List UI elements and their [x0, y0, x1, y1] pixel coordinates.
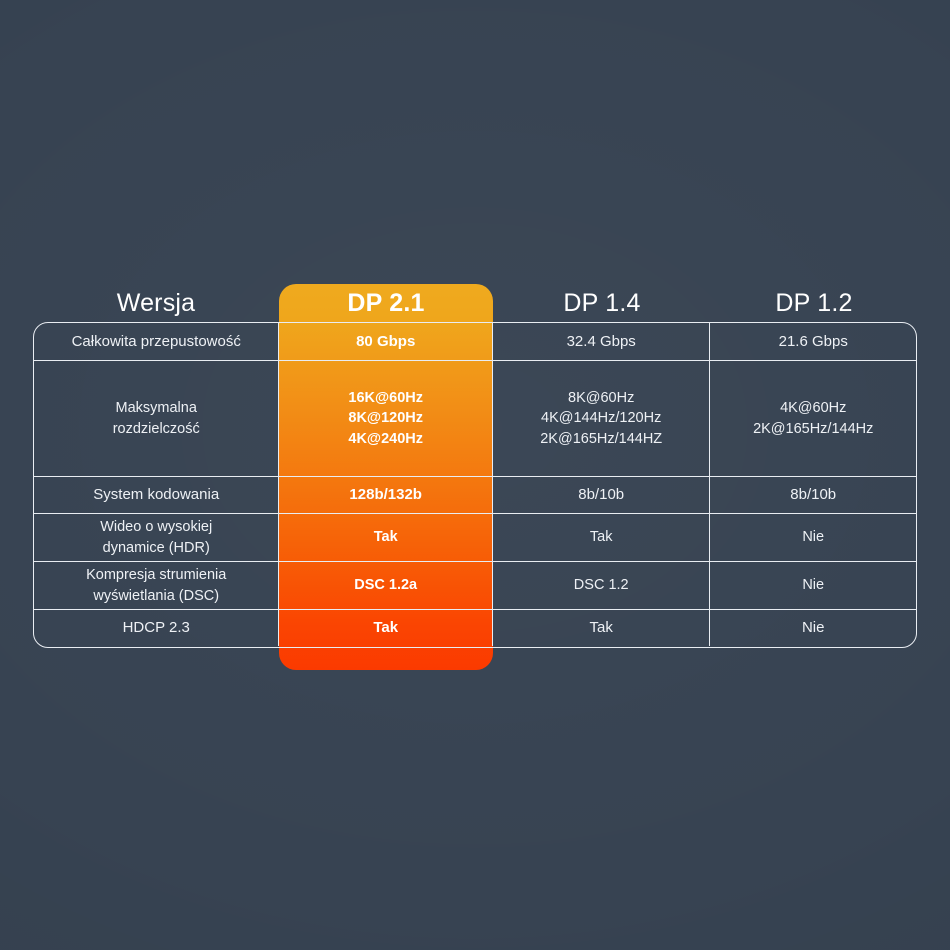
column-header-feature: Wersja [33, 284, 279, 322]
column-header-dp21-label: DP 2.1 [347, 289, 424, 318]
cell-feature-encoding: System kodowania [34, 477, 279, 513]
column-header-feature-label: Wersja [117, 289, 196, 318]
cell-feature-hdr: Wideo o wysokiej dynamice (HDR) [34, 514, 279, 561]
cell-dp21-resolution: 16K@60Hz 8K@120Hz 4K@240Hz [279, 361, 493, 476]
table-header-row: Wersja DP 2.1 DP 1.4 DP 1.2 [33, 284, 917, 322]
column-header-dp14-label: DP 1.4 [563, 289, 640, 318]
cell-dp21-dsc: DSC 1.2a [279, 562, 493, 609]
column-header-dp12-label: DP 1.2 [775, 289, 852, 318]
cell-dp14-hdr: Tak [493, 514, 711, 561]
cell-dp21-hdcp: Tak [279, 610, 493, 646]
cell-dp12-hdr: Nie [710, 514, 916, 561]
table-row: Maksymalna rozdzielczość 16K@60Hz 8K@120… [34, 361, 916, 477]
comparison-table-body: Całkowita przepustowość 80 Gbps 32.4 Gbp… [33, 322, 917, 648]
cell-dp12-hdcp: Nie [710, 610, 916, 646]
cell-dp14-bandwidth: 32.4 Gbps [493, 323, 711, 360]
column-header-dp21: DP 2.1 [279, 284, 493, 322]
cell-dp12-encoding: 8b/10b [710, 477, 916, 513]
column-header-dp14: DP 1.4 [493, 284, 711, 322]
cell-feature-dsc: Kompresja strumienia wyświetlania (DSC) [34, 562, 279, 609]
table-row: Wideo o wysokiej dynamice (HDR) Tak Tak … [34, 514, 916, 562]
cell-dp21-hdr: Tak [279, 514, 493, 561]
table-row: System kodowania 128b/132b 8b/10b 8b/10b [34, 477, 916, 514]
cell-dp21-bandwidth: 80 Gbps [279, 323, 493, 360]
cell-dp12-bandwidth: 21.6 Gbps [710, 323, 916, 360]
cell-dp14-dsc: DSC 1.2 [493, 562, 711, 609]
cell-dp14-hdcp: Tak [493, 610, 711, 646]
cell-feature-resolution: Maksymalna rozdzielczość [34, 361, 279, 476]
cell-dp21-encoding: 128b/132b [279, 477, 493, 513]
cell-dp14-encoding: 8b/10b [493, 477, 711, 513]
table-row: HDCP 2.3 Tak Tak Nie [34, 610, 916, 646]
cell-feature-bandwidth: Całkowita przepustowość [34, 323, 279, 360]
table-row: Kompresja strumienia wyświetlania (DSC) … [34, 562, 916, 610]
cell-dp12-dsc: Nie [710, 562, 916, 609]
cell-dp12-resolution: 4K@60Hz 2K@165Hz/144Hz [710, 361, 916, 476]
column-header-dp12: DP 1.2 [711, 284, 917, 322]
cell-feature-hdcp: HDCP 2.3 [34, 610, 279, 646]
dp-version-comparison-table: Wersja DP 2.1 DP 1.4 DP 1.2 Całkowita pr… [33, 284, 917, 674]
table-row: Całkowita przepustowość 80 Gbps 32.4 Gbp… [34, 323, 916, 361]
cell-dp14-resolution: 8K@60Hz 4K@144Hz/120Hz 2K@165Hz/144HZ [493, 361, 711, 476]
